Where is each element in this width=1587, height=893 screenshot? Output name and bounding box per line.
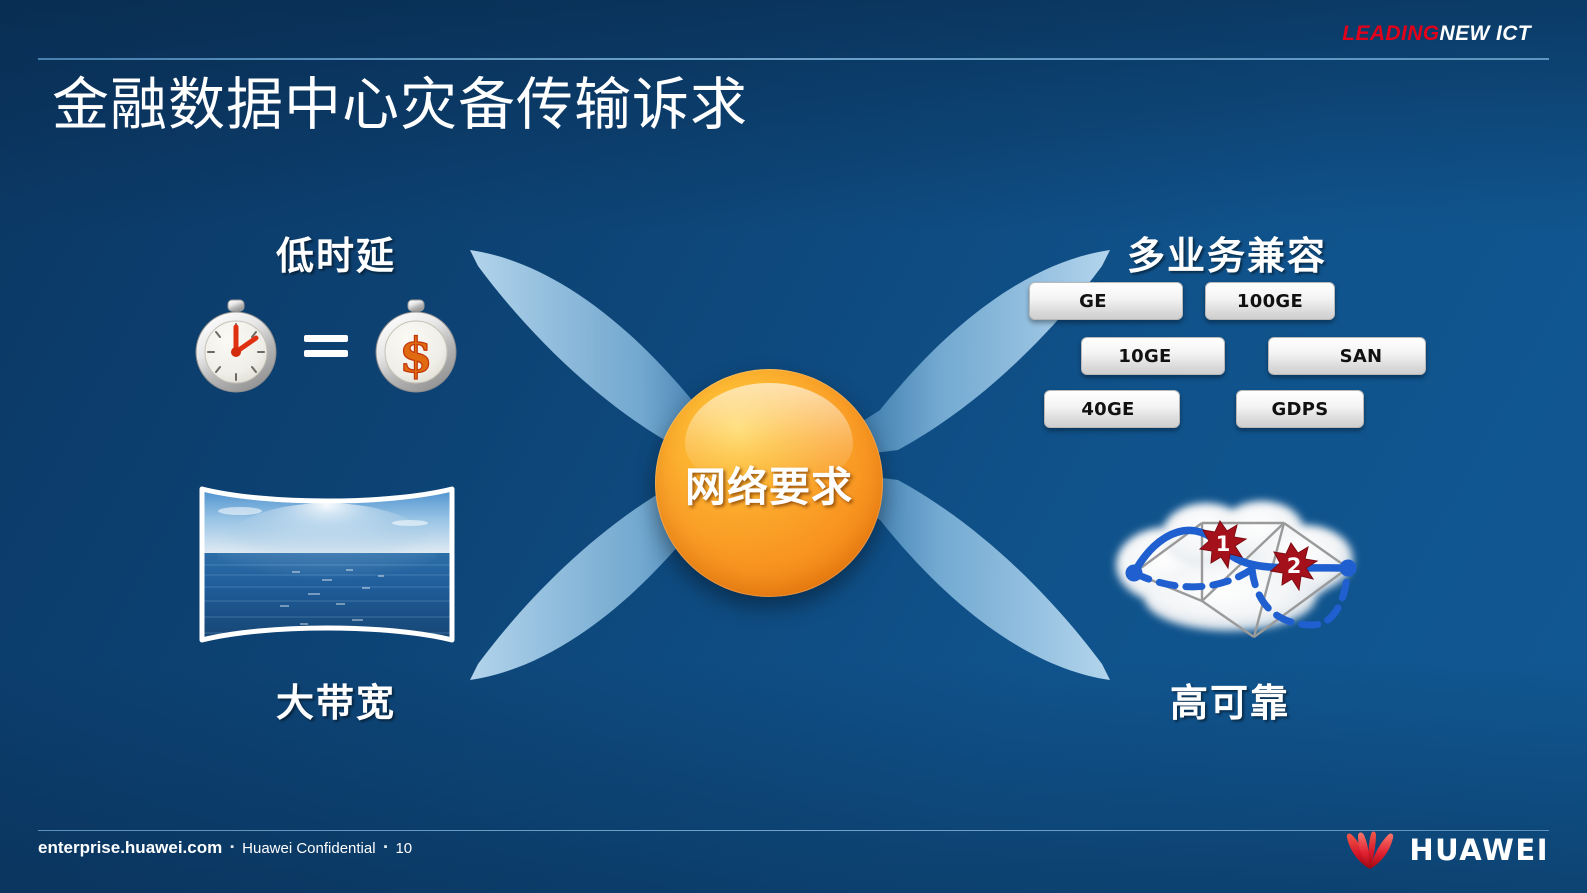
slide-canvas: LEADINGNEW ICT 金融数据中心灾备传输诉求 低时延 大带宽 多业务兼… — [0, 0, 1587, 893]
leading-new-ict-tagline: LEADINGNEW ICT — [1342, 22, 1531, 46]
footer-separator-2: ▪ — [384, 841, 388, 853]
service-tag-gdps[interactable]: GDPS — [1236, 390, 1364, 428]
label-multi-service-compatibility: 多业务兼容 — [1127, 225, 1327, 280]
tagline-new-ict: NEW ICT — [1440, 22, 1531, 45]
huawei-wordmark: HUAWEI — [1409, 833, 1549, 867]
service-tag-san[interactable]: SAN — [1268, 337, 1426, 375]
service-tag-label: 10GE — [1118, 346, 1171, 367]
ocean-bandwidth-image — [196, 483, 458, 646]
service-tag-label: 100GE — [1237, 291, 1303, 312]
service-tag-label: GDPS — [1271, 399, 1328, 420]
huawei-flower-icon — [1343, 829, 1397, 871]
cloud-network-diagram: 1 2 — [1080, 473, 1380, 643]
fault-2-label: 2 — [1287, 554, 1302, 578]
footer-site-url: enterprise.huawei.com — [38, 838, 222, 858]
footer-confidentiality-notice: Huawei Confidential — [242, 840, 375, 857]
network-requirements-sphere: 网络要求 — [655, 369, 883, 597]
footer: enterprise.huawei.com ▪ Huawei Confident… — [38, 838, 412, 858]
time-equals-money-graphic: $ — [186, 296, 476, 396]
svg-text:$: $ — [399, 328, 432, 384]
service-tag-label: SAN — [1340, 346, 1383, 367]
header-divider — [38, 58, 1549, 60]
label-low-latency: 低时延 — [276, 225, 396, 280]
service-tag-40ge[interactable]: 40GE — [1044, 390, 1180, 428]
huawei-logo: HUAWEI — [1343, 828, 1549, 872]
service-tag-100ge[interactable]: 100GE — [1205, 282, 1335, 320]
service-tag-ge[interactable]: GE — [1029, 282, 1183, 320]
stopwatch-icon — [186, 296, 286, 396]
footer-page-number: 10 — [395, 840, 412, 857]
service-tag-10ge[interactable]: 10GE — [1081, 337, 1225, 375]
path-endpoint-left — [1126, 565, 1143, 582]
label-high-reliability: 高可靠 — [1170, 672, 1290, 727]
money-stopwatch-icon: $ — [366, 296, 466, 396]
label-large-bandwidth: 大带宽 — [276, 672, 396, 727]
equals-sign — [304, 331, 348, 361]
footer-separator-1: ▪ — [230, 841, 234, 853]
fault-1-label: 1 — [1216, 532, 1231, 556]
footer-divider — [38, 830, 1549, 831]
sphere-label: 网络要求 — [655, 369, 883, 597]
page-title: 金融数据中心灾备传输诉求 — [52, 74, 748, 138]
tagline-leading: LEADING — [1342, 22, 1439, 45]
path-endpoint-right — [1340, 560, 1357, 577]
service-tag-label: 40GE — [1081, 399, 1134, 420]
service-tag-label: GE — [1079, 291, 1107, 312]
